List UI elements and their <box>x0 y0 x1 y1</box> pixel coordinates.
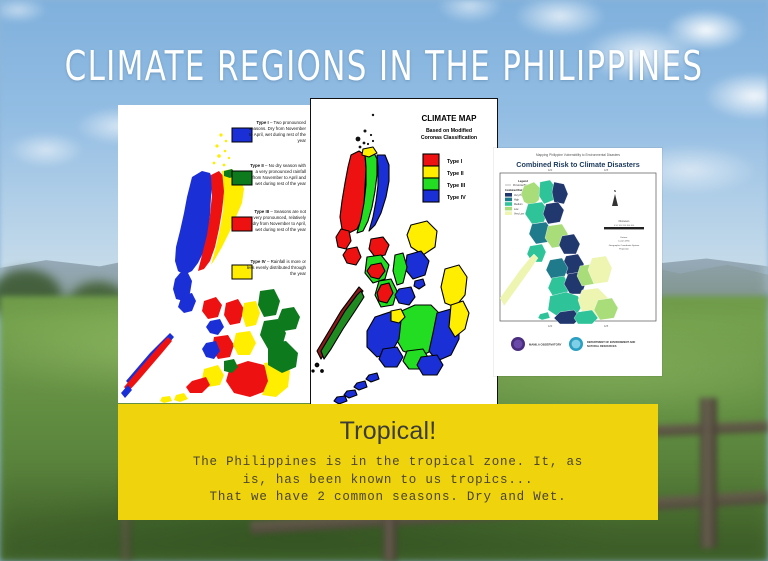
map-climate-types-svg: Type I – Two pronounced seasons. Dry fro… <box>118 105 310 403</box>
map3-legend-swatch-medium <box>505 202 512 206</box>
map3-header: Mapping Philippine Vulnerability to Envi… <box>536 153 620 157</box>
legend-swatch-type2 <box>423 166 439 178</box>
legend-text-type3-a: Type III – Seasons are not <box>254 209 306 214</box>
mindanao-blue-s <box>417 355 443 375</box>
map3-legend-label-very-low: Very Low <box>514 212 524 215</box>
map3-axis-top-2: 125 <box>604 168 609 172</box>
legend-text-type2-b: a very pronounced rainfall <box>255 169 306 174</box>
map2-subtitle-1: Based on Modified <box>426 128 472 134</box>
legend-swatch-type3 <box>423 178 439 190</box>
legend-label-type3: Type III <box>447 183 466 189</box>
legend-text-type2-c: from November to April and <box>253 175 307 180</box>
map-coronas-panel[interactable]: CLIMATE MAP Based on Modified Coronas Cl… <box>310 98 498 410</box>
caption-heading: Tropical! <box>118 404 658 445</box>
legend-label-type4: Type IV <box>447 195 466 201</box>
legend-text-type4-b: less evenly distributed through <box>247 265 307 270</box>
caption-body: The Philippines is in the tropical zone.… <box>118 445 658 507</box>
map3-legend-swatch-very-low <box>505 211 512 215</box>
caption-line-3: That we have 2 common seasons. Dry and W… <box>118 489 658 507</box>
legend-text-type1-d: year <box>297 138 306 143</box>
map3-scale-label: Kilometers <box>619 220 631 223</box>
map3-legend-label-low: Low <box>514 208 519 211</box>
map3-projection-2: Luzon 1911 <box>618 240 630 242</box>
map3-legend-swatch-high <box>505 198 512 202</box>
caption-line-1: The Philippines is in the tropical zone.… <box>118 454 658 472</box>
map3-projection-4: Projection <box>619 247 630 250</box>
legend-swatch-type3 <box>232 217 252 231</box>
slide-canvas: CLIMATE REGIONS IN THE PHILIPPINES <box>0 0 768 561</box>
caption-box: Tropical! The Philippines is in the trop… <box>118 404 658 520</box>
map2-subtitle-2: Coronas Classification <box>421 135 477 141</box>
map3-legend-label-medium: Medium <box>514 203 523 206</box>
legend-text-type2-a: Type II – No dry season with <box>250 163 306 168</box>
map3-legend-title: Legend <box>518 179 528 183</box>
mindanao-sw-blue <box>379 347 403 367</box>
map3-north-label: N <box>614 189 616 193</box>
map3-axis-bottom-2: 125 <box>604 324 609 328</box>
legend-text-type1-c: to April, wet during rest of the <box>249 132 306 137</box>
legend-text-type2-d: wet during rest of the year <box>255 181 306 186</box>
legend-text-type3-d: wet during rest of the year <box>255 227 306 232</box>
map-climate-types-panel[interactable]: Type I – Two pronounced seasons. Dry fro… <box>118 105 310 403</box>
manila-observatory-label: MANILA OBSERVATORY <box>529 343 562 347</box>
legend-text-type1-a: Type I – Two pronounced <box>256 120 306 125</box>
legend-swatch-type1 <box>423 154 439 166</box>
denr-label-2: NATURAL RESOURCES <box>587 344 617 348</box>
legend-swatch-type4 <box>423 190 439 202</box>
legend-text-type3-b: very pronounced, relatively <box>254 215 307 220</box>
map-combined-risk-panel[interactable]: Mapping Philippine Vulnerability to Envi… <box>494 148 662 376</box>
legend-text-type4-c: the year <box>290 271 306 276</box>
legend-text-type4-a: Type IV – Rainfall is more or <box>250 259 306 264</box>
map3-projection-3: Geographic Coordinate System <box>609 244 640 247</box>
map2-title: CLIMATE MAP <box>422 114 478 123</box>
denr-label-1: DEPARTMENT OF ENVIRONMENT AND <box>587 340 635 344</box>
map3-axis-bottom-1: 120 <box>548 324 553 328</box>
map3-projection-1: Datum: <box>620 236 627 239</box>
legend-swatch-type2 <box>232 171 252 185</box>
map3-legend-swatch-very-high <box>505 193 512 197</box>
map3-axis-top-1: 120 <box>548 168 553 172</box>
legend-label-type2: Type II <box>447 171 464 177</box>
map-combined-risk-svg: Mapping Philippine Vulnerability to Envi… <box>494 148 662 376</box>
map3-legend-label-high: High <box>514 199 520 202</box>
fence-post-right <box>700 398 717 548</box>
legend-text-type1-b: seasons. Dry from November <box>249 126 307 131</box>
legend-label-type1: Type I <box>447 159 463 165</box>
caption-line-2: is, has been known to us tropics... <box>118 472 658 490</box>
map3-title: Combined Risk to Climate Disasters <box>516 160 639 169</box>
map-coronas-svg: CLIMATE MAP Based on Modified Coronas Cl… <box>311 99 497 409</box>
legend-text-type3-c: dry from November to April, <box>253 221 306 226</box>
map3-legend-swatch-low <box>505 207 512 211</box>
slide-title: CLIMATE REGIONS IN THE PHILIPPINES <box>61 44 706 88</box>
map3-scale-ticks: 0 50 100 200 300 400 <box>614 225 635 227</box>
